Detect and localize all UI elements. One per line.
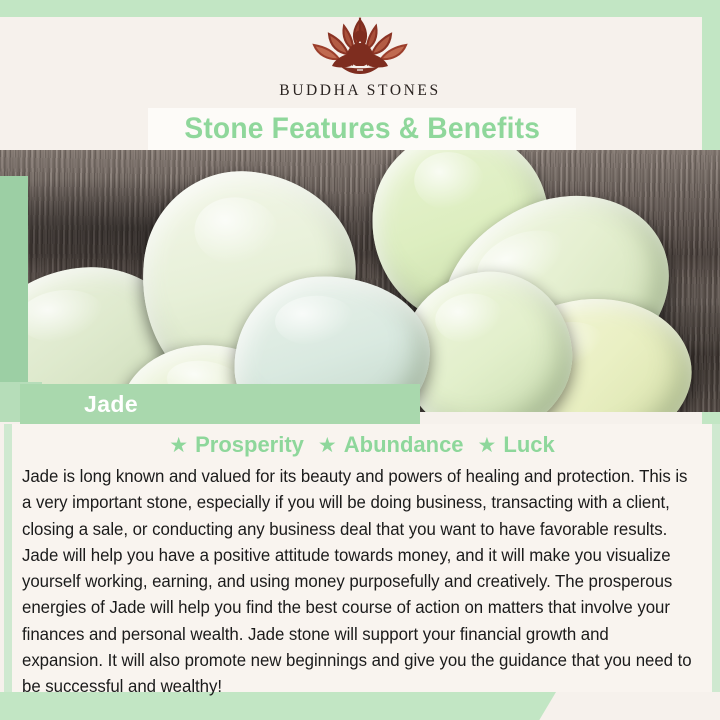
keyword-label: Luck	[503, 432, 554, 458]
content-edge-left	[4, 424, 12, 692]
lotus-meditation-figure-icon	[301, 16, 419, 78]
keyword-list: ★ Prosperity ★ Abundance ★ Luck	[22, 432, 702, 458]
brand-wordmark: BUDDHA STONES	[0, 82, 720, 100]
keyword-item-luck: ★ Luck	[478, 432, 555, 458]
hero-image-jade-stones	[0, 150, 720, 412]
stone-name: Jade	[84, 391, 138, 418]
keyword-item-abundance: ★ Abundance	[318, 432, 464, 458]
keyword-label: Prosperity	[195, 432, 304, 458]
keyword-label: Abundance	[344, 432, 464, 458]
decorative-frame-top	[0, 0, 720, 17]
page-title: Stone Features & Benefits	[184, 112, 540, 146]
content-card: ★ Prosperity ★ Abundance ★ Luck Jade is …	[12, 424, 712, 692]
infographic-page: BUDDHA STONES Stone Features & Benefits …	[0, 0, 720, 720]
title-banner: Stone Features & Benefits	[148, 108, 576, 150]
content-edge-right	[712, 424, 720, 692]
brand-logo-block: BUDDHA STONES	[0, 16, 720, 100]
star-icon: ★	[318, 435, 337, 456]
star-icon: ★	[478, 435, 497, 456]
keyword-item-prosperity: ★ Prosperity	[169, 432, 304, 458]
stone-name-band: Jade	[20, 384, 420, 424]
star-icon: ★	[169, 435, 188, 456]
stone-description: Jade is long known and valued for its be…	[22, 464, 692, 701]
